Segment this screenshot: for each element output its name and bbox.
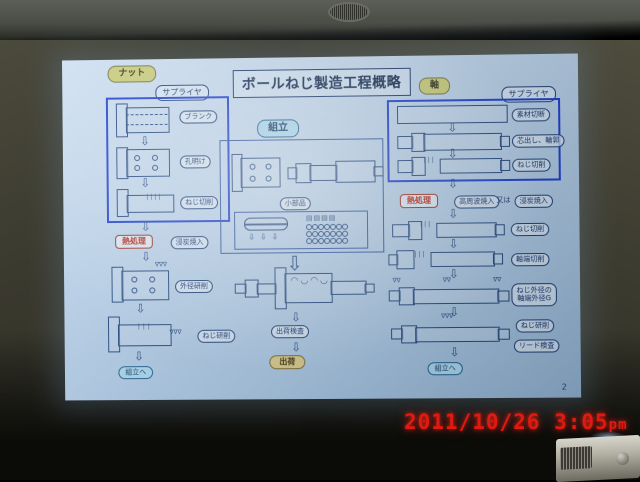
shaft-p4-sym: ∇∇∇ — [441, 314, 453, 320]
small-parts-label: 小部品 — [280, 197, 311, 210]
nut-hole-1 — [134, 155, 140, 161]
assembly-arrow-to-shipment: ⇩ — [291, 341, 301, 353]
shaft-tc-grooves: ||| — [424, 158, 436, 164]
nut-arrow-1: ⇩ — [140, 135, 150, 147]
nut-step-threadcut-label: ねじ切削 — [180, 196, 218, 209]
shaft-p3-sym-2: ∇∇ — [443, 278, 451, 284]
projected-slide: ボールねじ製造工程概略 ナット サプライヤ ブランク ⇩ 孔明け ⇩ |||| … — [62, 53, 581, 400]
shaft-p4-body — [415, 327, 500, 343]
assembly-shaft-thread — [309, 165, 337, 181]
nut-arrow-5: ⇩ — [136, 302, 146, 314]
shaft-p2-journal — [396, 250, 414, 269]
shaft-p3-tip — [497, 290, 509, 301]
final-shaft-tail — [331, 281, 367, 295]
nut-step-drill-label: 孔明け — [180, 155, 211, 168]
projector-focus-knob[interactable] — [616, 452, 629, 465]
nut-thread-grooves: |||| — [146, 195, 162, 201]
shaft-step-threadcut-label: ねじ切削 — [512, 158, 550, 171]
nut-arrow-3: ⇩ — [141, 221, 151, 233]
shipment-label: 出荷 — [269, 355, 305, 369]
nut-tg-grooves: ||| — [138, 324, 153, 330]
shaft-center-body — [423, 133, 502, 151]
camera-timestamp: 2011/10/26 3:05pm — [404, 410, 628, 434]
shaft-step-cut-label: 素材切断 — [512, 108, 550, 122]
shaft-arrow-3: ⇩ — [448, 178, 458, 190]
nut-grind-finish-symbol: ∇∇∇ — [155, 262, 167, 268]
shaft-heat-treatment-note: 高周波焼入 — [454, 195, 499, 209]
nut-arrow-6: ⇩ — [134, 350, 144, 362]
shaft-p4-tip — [498, 329, 510, 340]
nut-to-assembly-label: 組立へ — [118, 366, 153, 379]
shaft-tc-body — [440, 158, 503, 174]
nut-grind-hole-3 — [131, 288, 137, 294]
screenshot-root: ボールねじ製造工程概略 ナット サプライヤ ブランク ⇩ 孔明け ⇩ |||| … — [0, 0, 640, 480]
nut-step-od-grind-label: 外径研削 — [175, 280, 213, 293]
shaft-center-tip — [500, 136, 510, 147]
shaft-heat-treatment-label: 熱処理 — [400, 194, 438, 208]
shaft-p2-tip — [493, 253, 503, 264]
shaft-arrow-1: ⇩ — [447, 121, 457, 133]
shaft-arrow-5: ⇩ — [448, 238, 458, 250]
shaft-arrow-4: ⇩ — [448, 208, 458, 220]
assembly-shaft-body — [335, 160, 375, 182]
nut-arrow-4: ⇩ — [141, 251, 151, 263]
final-ball-circuit: ◠◡◠◡ — [290, 277, 329, 286]
nut-grind-hole-2 — [149, 276, 155, 282]
nut-hole-4 — [152, 165, 158, 171]
projector-vent-icon — [560, 446, 592, 470]
small-parts-screws: ⇩⇩⇩ — [248, 233, 283, 241]
shaft-column-header: 軸 — [419, 77, 450, 94]
shaft-p3-sym-1: ∇∇ — [393, 278, 401, 284]
shaft-p1-tip — [495, 224, 505, 235]
shaft-p1-grooves: ||| — [420, 222, 432, 228]
shaft-heat-treatment-or: 又は — [496, 197, 510, 204]
assembly-column-header: 組立 — [257, 119, 299, 137]
nut-grind-hole-4 — [149, 287, 155, 293]
assembly-nut-hole-3 — [250, 176, 256, 182]
assembly-arrow-in: ⇩ — [286, 253, 303, 273]
shaft-tc-tip — [500, 160, 510, 171]
small-parts-balls — [306, 224, 347, 244]
shaft-to-assembly-label: 組立へ — [428, 362, 463, 375]
shaft-p1-body — [436, 222, 497, 238]
small-parts-seal — [244, 223, 288, 230]
timestamp-datetime: 2011/10/26 3:05 — [404, 410, 609, 434]
nut-heat-treatment-note: 浸炭焼入 — [171, 236, 209, 249]
slide-title: ボールねじ製造工程概略 — [233, 68, 411, 98]
nut-blank-body — [126, 107, 170, 133]
nut-step-thread-grind-label: ねじ研削 — [197, 330, 235, 343]
nut-hole-3 — [134, 165, 140, 171]
shaft-heat-treatment-note2: 浸炭焼入 — [515, 195, 553, 208]
shaft-post-step-threadcut-label: ねじ切削 — [511, 223, 549, 236]
shaft-step-centering-label: 芯出し、輪郭 — [512, 134, 565, 148]
shipping-inspection-label: 出荷検査 — [271, 325, 309, 338]
nut-heat-treatment-label: 熱処理 — [115, 235, 153, 249]
nut-arrow-2: ⇩ — [140, 177, 150, 189]
assembly-nut-hole-4 — [266, 176, 272, 182]
shaft-arrow-8: ⇩ — [449, 346, 459, 358]
assembly-nut-body — [240, 157, 280, 187]
shaft-p2-body — [430, 251, 495, 267]
shaft-post-step-thread-grind-label: ねじ研削 — [516, 319, 554, 332]
shaft-post-step-endcut-label: 軸端切削 — [511, 253, 549, 266]
assembly-shaft-tip — [373, 166, 383, 176]
nut-grind-hole-1 — [131, 277, 137, 283]
final-shaft-tip — [365, 284, 375, 293]
nut-tg-finish-symbol: ∇∇∇ — [170, 330, 182, 336]
shaft-p2-grooves: ||| — [414, 252, 426, 258]
shaft-post-step-lead-inspect-label: リード検査 — [514, 339, 560, 352]
assembly-nut-hole-2 — [265, 164, 271, 170]
shaft-post-step-od-label: ねじ外径の 軸端外径G — [511, 283, 557, 306]
small-parts-retainer: ▤▤▤▤ — [306, 215, 337, 222]
nut-step-blank-label: ブランク — [179, 110, 217, 123]
slide-page-number: 2 — [562, 383, 567, 392]
nut-drill-body — [126, 149, 170, 177]
shaft-p3-sym-3: ∇∇ — [493, 277, 501, 283]
assembly-arrow-to-inspection: ⇩ — [291, 311, 301, 323]
shaft-p3-body — [413, 289, 500, 305]
nut-column-header: ナット — [108, 65, 157, 83]
nut-hole-2 — [152, 155, 158, 161]
assembly-nut-hole-1 — [250, 164, 256, 170]
ceiling-vent-icon — [328, 2, 370, 22]
nut-grind-body — [121, 270, 169, 300]
